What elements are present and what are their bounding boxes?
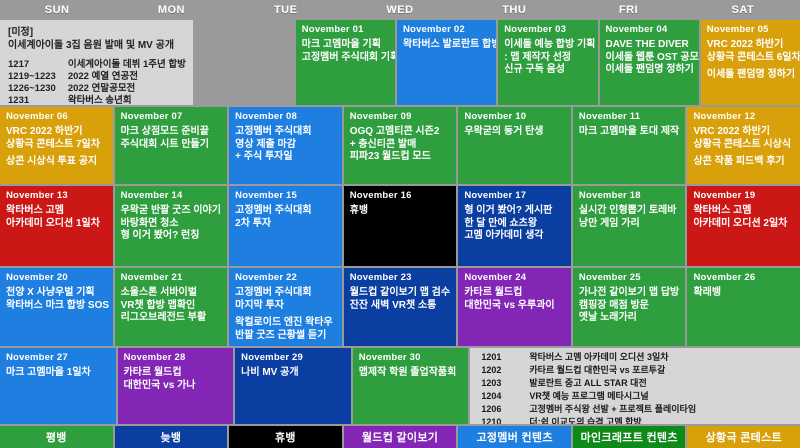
day-event-line: 이세돌 예능 합방 기획	[504, 39, 592, 52]
day-date-label: November 20	[6, 272, 108, 283]
day-event-line: 왁타버스 발로란트 합방	[403, 39, 491, 52]
day-event-line: 실시간 인형뽑기 토레바	[579, 205, 681, 218]
schedule-code: 1203	[480, 377, 528, 390]
calendar-week-row: November 06VRC 2022 하반기상황극 콘테스트 7일차상콘 시상…	[0, 107, 800, 186]
day-event-line: 우왁굳의 둥거 탄생	[464, 126, 566, 139]
day-event-line: 우왁굳 반팔 굿즈 이야기	[121, 205, 223, 218]
day-event-line: 캠핑장 매점 방문	[579, 300, 681, 313]
day-event-line: 맵제작 학원 졸업작품회	[359, 367, 464, 380]
day-cell-november-08[interactable]: November 08고정멤버 주식대회영상 제출 마감+ 주식 투자일	[229, 107, 342, 184]
day-event-line: 형 이거 봤어? 런칭	[121, 230, 223, 243]
day-header-tue: TUE	[229, 0, 343, 20]
day-cell-november-17[interactable]: November 17형 이거 봤어? 게시판한 달 만에 쇼츠왕고멤 아카데미…	[458, 186, 571, 266]
day-event-line: VR챗 합방 맵확인	[121, 300, 223, 313]
day-event-line: 고정멤버 주식대회	[235, 287, 337, 300]
day-date-label: November 01	[302, 24, 390, 35]
list-item: 1203발로란트 중고 ALL STAR 대전	[480, 377, 794, 390]
day-cell-november-11[interactable]: November 11마크 고멤마을 토대 제작	[573, 107, 686, 184]
calendar-week-row: November 13왁타버스 고멤아카데미 오디션 1일차November 1…	[0, 186, 800, 268]
schedule-text: 더;쉽 이교도의 습격 고멤 합방	[528, 416, 794, 424]
day-event-line: 주식대회 시트 만들기	[121, 139, 223, 152]
day-date-label: November 21	[121, 272, 223, 283]
day-event-line: 2차 투자	[235, 218, 337, 231]
day-cell-november-10[interactable]: November 10우왁굳의 둥거 탄생	[458, 107, 571, 184]
day-date-label: November 07	[121, 111, 223, 122]
schedule-code: 1210	[480, 416, 528, 424]
day-date-label: November 04	[606, 24, 694, 35]
day-date-label: November 10	[464, 111, 566, 122]
day-cell-november-26[interactable]: November 26확래뱅	[687, 268, 800, 346]
day-event-line: 낭만 게임 가리	[579, 218, 681, 231]
list-item: 1201왁타버스 고멤 아카데미 오디션 3일차	[480, 351, 794, 364]
day-event-line: : 맵 제작자 선정	[504, 52, 592, 65]
day-event-line: 확래뱅	[693, 287, 795, 300]
day-cell-november-07[interactable]: November 07마크 상점모드 준비끝주식대회 시트 만들기	[115, 107, 228, 184]
upcoming-schedule-list: 1201왁타버스 고멤 아카데미 오디션 3일차1202카타르 월드컵 대한민국…	[470, 348, 800, 424]
day-event-line: 바탕화면 청소	[121, 218, 223, 231]
calendar-grid: SUNMONTUEWEDTHUFRISAT [미정]이세계아이돌 3집 음원 발…	[0, 0, 800, 442]
day-event-line: 왁타버스 고멤	[693, 205, 795, 218]
day-cell-november-18[interactable]: November 18실시간 인형뽑기 토레바낭만 게임 가리	[573, 186, 686, 266]
undecided-tag: [미정]	[8, 26, 185, 39]
day-cell-november-02[interactable]: November 02왁타버스 발로란트 합방	[397, 20, 496, 105]
calendar-weeks: [미정]이세계아이돌 3집 음원 발매 및 MV 공개1217이세계아이돌 데뷔…	[0, 20, 800, 426]
day-event-line: 월드컵 같이보기 맵 검수	[350, 287, 452, 300]
day-event-line: 상황극 콘테스트 7일차	[6, 139, 108, 152]
day-date-label: November 25	[579, 272, 681, 283]
list-item: 1206고정멤버 주식왕 선발 + 프로젝트 플레이타임	[480, 403, 794, 416]
day-cell-november-28[interactable]: November 28카타르 월드컵대한민국 vs 가나	[118, 348, 234, 424]
day-event-line: 고멤 아카데미 생각	[464, 230, 566, 243]
list-item: 1210더;쉽 이교도의 습격 고멤 합방	[480, 416, 794, 424]
day-cell-november-13[interactable]: November 13왁타버스 고멤아카데미 오디션 1일차	[0, 186, 113, 266]
day-cell-november-23[interactable]: November 23월드컵 같이보기 맵 검수잔잔 새벽 VR챗 소통	[344, 268, 457, 346]
calendar-week-row: November 20천양 X 사냥우벌 기획왁타버스 마크 합방 SOSNov…	[0, 268, 800, 348]
day-cell-november-04[interactable]: November 04DAVE THE DIVER이세돌 웹툰 OST 공모전이…	[600, 20, 699, 105]
day-cell-november-12[interactable]: November 12VRC 2022 하반기상황극 콘테스트 시상식상콘 작품…	[687, 107, 800, 184]
schedule-code: 1231	[8, 95, 68, 105]
day-event-line: 카타르 월드컵	[464, 287, 566, 300]
day-event-line: 옛날 노래가리	[579, 312, 681, 325]
day-event-line: 마크 고멤마을 토대 제작	[579, 126, 681, 139]
day-cell-november-06[interactable]: November 06VRC 2022 하반기상황극 콘테스트 7일차상콘 시상…	[0, 107, 113, 184]
day-event-line: 리그오브레전드 부활	[121, 312, 223, 325]
day-event-line: 왁컬로이드 엔진 왁타우	[235, 317, 337, 330]
schedule-text: 2022 연말공모전	[68, 83, 186, 95]
schedule-code: 1226~1230	[8, 83, 68, 95]
day-cell-november-24[interactable]: November 24카타르 월드컵대한민국 vs 우루과이	[458, 268, 571, 346]
day-date-label: November 19	[693, 190, 795, 201]
day-event-line: 반팔 굿즈 근황썰 듣기	[235, 330, 337, 343]
legend-item-5[interactable]: 마인크래프트 컨텐츠	[573, 426, 686, 448]
table-row: 1217이세계아이돌 데뷔 1주년 합방	[8, 59, 186, 71]
day-date-label: November 15	[235, 190, 337, 201]
day-event-line: VRC 2022 하반기	[693, 126, 795, 139]
day-date-label: November 08	[235, 111, 337, 122]
day-event-line: VRC 2022 하반기	[707, 39, 795, 52]
day-cell-november-27[interactable]: November 27마크 고멤마을 1일차	[0, 348, 116, 424]
schedule-text: 발로란트 중고 ALL STAR 대전	[528, 377, 794, 390]
table-row: 1226~12302022 연말공모전	[8, 83, 186, 95]
schedule-code: 1204	[480, 390, 528, 403]
day-event-line: 영상 제출 마감	[235, 139, 337, 152]
schedule-text: 이세계아이돌 데뷔 1주년 합방	[68, 59, 186, 71]
day-cell-november-03[interactable]: November 03이세돌 예능 합방 기획: 맵 제작자 선정신규 구독 음…	[498, 20, 597, 105]
day-event-line: 이세돌 팬덤명 정하기	[707, 69, 795, 82]
day-date-label: November 05	[707, 24, 795, 35]
day-date-label: November 12	[693, 111, 795, 122]
day-event-line: 마크 고멤마을 1일차	[6, 367, 111, 380]
day-event-line: 고정멤버 주식대회	[235, 126, 337, 139]
day-cell-november-16[interactable]: November 16휴뱅	[344, 186, 457, 266]
table-row: 1231왁타버스 송년회	[8, 95, 186, 105]
day-cell-november-14[interactable]: November 14우왁굳 반팔 굿즈 이야기바탕화면 청소형 이거 봤어? …	[115, 186, 228, 266]
schedule-code: 1202	[480, 364, 528, 377]
day-event-line: 마지막 투자	[235, 300, 337, 313]
schedule-text: 왁타버스 송년회	[68, 95, 186, 105]
schedule-code: 1206	[480, 403, 528, 416]
day-header-wed: WED	[343, 0, 457, 20]
legend-item-3[interactable]: 월드컵 같이보기	[344, 426, 457, 448]
day-event-line: OGQ 고멤티콘 시즌2	[350, 126, 452, 139]
day-event-line: 상콘 시상식 투표 공지	[6, 156, 108, 169]
day-date-label: November 06	[6, 111, 108, 122]
schedule-text: 2022 예열 연공전	[68, 71, 186, 83]
day-cell-november-15[interactable]: November 15고정멤버 주식대회2차 투자	[229, 186, 342, 266]
day-header-sat: SAT	[686, 0, 800, 20]
day-event-line: 카타르 월드컵	[124, 367, 229, 380]
day-date-label: November 02	[403, 24, 491, 35]
schedule-text: 왁타버스 고멤 아카데미 오디션 3일차	[528, 351, 794, 364]
legend-item-0[interactable]: 평뱅	[0, 426, 113, 448]
list-item: 1202카타르 월드컵 대한민국 vs 포르투갈	[480, 364, 794, 377]
day-event-line: 나비 MV 공개	[241, 367, 346, 380]
schedule-code: 1201	[480, 351, 528, 364]
calendar-week-row: [미정]이세계아이돌 3집 음원 발매 및 MV 공개1217이세계아이돌 데뷔…	[0, 20, 800, 107]
day-event-line: 상황극 콘테스트 6일차	[707, 52, 795, 65]
day-cell-november-09[interactable]: November 09OGQ 고멤티콘 시즌2+ 충신티콘 발매피파23 월드컵…	[344, 107, 457, 184]
undecided-title: 이세계아이돌 3집 음원 발매 및 MV 공개	[8, 39, 185, 52]
list-item: 1204VR챗 예능 프로그램 메타시그널	[480, 390, 794, 403]
day-event-line: 피파23 월드컵 모드	[350, 151, 452, 164]
legend-item-1[interactable]: 늦뱅	[115, 426, 228, 448]
day-event-line: VRC 2022 하반기	[6, 126, 108, 139]
day-event-line: DAVE THE DIVER	[606, 39, 694, 52]
day-date-label: November 27	[6, 352, 111, 363]
day-event-line: 이세돌 웹툰 OST 공모전	[606, 52, 694, 65]
day-date-label: November 28	[124, 352, 229, 363]
day-date-label: November 13	[6, 190, 108, 201]
day-date-label: November 29	[241, 352, 346, 363]
day-event-line: 아카데미 오디션 2일차	[693, 218, 795, 231]
day-event-line: + 충신티콘 발매	[350, 139, 452, 152]
day-date-label: November 24	[464, 272, 566, 283]
day-event-line: 상황극 콘테스트 시상식	[693, 139, 795, 152]
day-event-line: 고정멤버 주식대회	[235, 205, 337, 218]
day-header-mon: MON	[114, 0, 228, 20]
undecided-schedule-table: 1217이세계아이돌 데뷔 1주년 합방1219~12232022 예열 연공전…	[8, 59, 186, 105]
table-row: 1219~12232022 예열 연공전	[8, 71, 186, 83]
day-event-line: 대한민국 vs 우루과이	[464, 300, 566, 313]
day-date-label: November 23	[350, 272, 452, 283]
day-header-thu: THU	[457, 0, 571, 20]
legend-item-2[interactable]: 휴뱅	[229, 426, 342, 448]
day-cell-november-22[interactable]: November 22고정멤버 주식대회마지막 투자왁컬로이드 엔진 왁타우반팔…	[229, 268, 342, 346]
day-header-fri: FRI	[571, 0, 685, 20]
day-event-line: 이세돌 팬덤명 정하기	[606, 64, 694, 77]
day-date-label: November 11	[579, 111, 681, 122]
day-date-label: November 14	[121, 190, 223, 201]
undecided-banner: [미정]이세계아이돌 3집 음원 발매 및 MV 공개1217이세계아이돌 데뷔…	[0, 20, 193, 105]
schedule-code: 1219~1223	[8, 71, 68, 83]
day-date-label: November 22	[235, 272, 337, 283]
day-event-line: 신규 구독 음성	[504, 64, 592, 77]
day-date-label: November 18	[579, 190, 681, 201]
legend-item-6[interactable]: 상황극 콘테스트	[687, 426, 800, 448]
schedule-text: 고정멤버 주식왕 선발 + 프로젝트 플레이타임	[528, 403, 794, 416]
day-event-line: 마크 상점모드 준비끝	[121, 126, 223, 139]
day-cell-november-21[interactable]: November 21소울스톤 서바이벌VR챗 합방 맵확인리그오브레전드 부활	[115, 268, 228, 346]
day-cell-november-20[interactable]: November 20천양 X 사냥우벌 기획왁타버스 마크 합방 SOS	[0, 268, 113, 346]
day-date-label: November 17	[464, 190, 566, 201]
legend-bar: 평뱅늦뱅휴뱅월드컵 같이보기고정멤버 컨텐츠마인크래프트 컨텐츠상황극 콘테스트	[0, 426, 800, 448]
day-event-line: 천양 X 사냥우벌 기획	[6, 287, 108, 300]
day-event-line: 잔잔 새벽 VR챗 소통	[350, 300, 452, 313]
day-date-label: November 16	[350, 190, 452, 201]
day-event-line: 형 이거 봤어? 게시판	[464, 205, 566, 218]
schedule-text: 카타르 월드컵 대한민국 vs 포르투갈	[528, 364, 794, 377]
day-event-line: 휴뱅	[350, 205, 452, 218]
day-event-line: 아카데미 오디션 1일차	[6, 218, 108, 231]
day-event-line: + 주식 투자일	[235, 151, 337, 164]
day-event-line: 왁타버스 고멤	[6, 205, 108, 218]
schedule-code: 1217	[8, 59, 68, 71]
day-cell-november-19[interactable]: November 19왁타버스 고멤아카데미 오디션 2일차	[687, 186, 800, 266]
day-event-line: 대한민국 vs 가나	[124, 380, 229, 393]
day-event-line: 고정멤버 주식대회 기획	[302, 52, 390, 65]
day-header-sun: SUN	[0, 0, 114, 20]
day-event-line: 상콘 작품 피드백 후기	[693, 156, 795, 169]
day-cell-november-25[interactable]: November 25가나전 같이보기 맵 답방캠핑장 매점 방문옛날 노래가리	[573, 268, 686, 346]
day-date-label: November 03	[504, 24, 592, 35]
calendar-week-row: November 27마크 고멤마을 1일차November 28카타르 월드컵…	[0, 348, 800, 426]
day-cell-november-30[interactable]: November 30맵제작 학원 졸업작품회	[353, 348, 469, 424]
legend-item-4[interactable]: 고정멤버 컨텐츠	[458, 426, 571, 448]
schedule-text: VR챗 예능 프로그램 메타시그널	[528, 390, 794, 403]
day-date-label: November 09	[350, 111, 452, 122]
day-event-line: 소울스톤 서바이벌	[121, 287, 223, 300]
day-event-line: 마크 고멤마을 기획	[302, 39, 390, 52]
day-of-week-header: SUNMONTUEWEDTHUFRISAT	[0, 0, 800, 20]
day-date-label: November 30	[359, 352, 464, 363]
day-event-line: 왁타버스 마크 합방 SOS	[6, 300, 108, 313]
day-date-label: November 26	[693, 272, 795, 283]
day-cell-november-05[interactable]: November 05VRC 2022 하반기상황극 콘테스트 6일차이세돌 팬…	[701, 20, 800, 105]
day-cell-november-01[interactable]: November 01마크 고멤마을 기획고정멤버 주식대회 기획	[296, 20, 395, 105]
day-event-line: 한 달 만에 쇼츠왕	[464, 218, 566, 231]
day-event-line: 가나전 같이보기 맵 답방	[579, 287, 681, 300]
day-cell-november-29[interactable]: November 29나비 MV 공개	[235, 348, 351, 424]
